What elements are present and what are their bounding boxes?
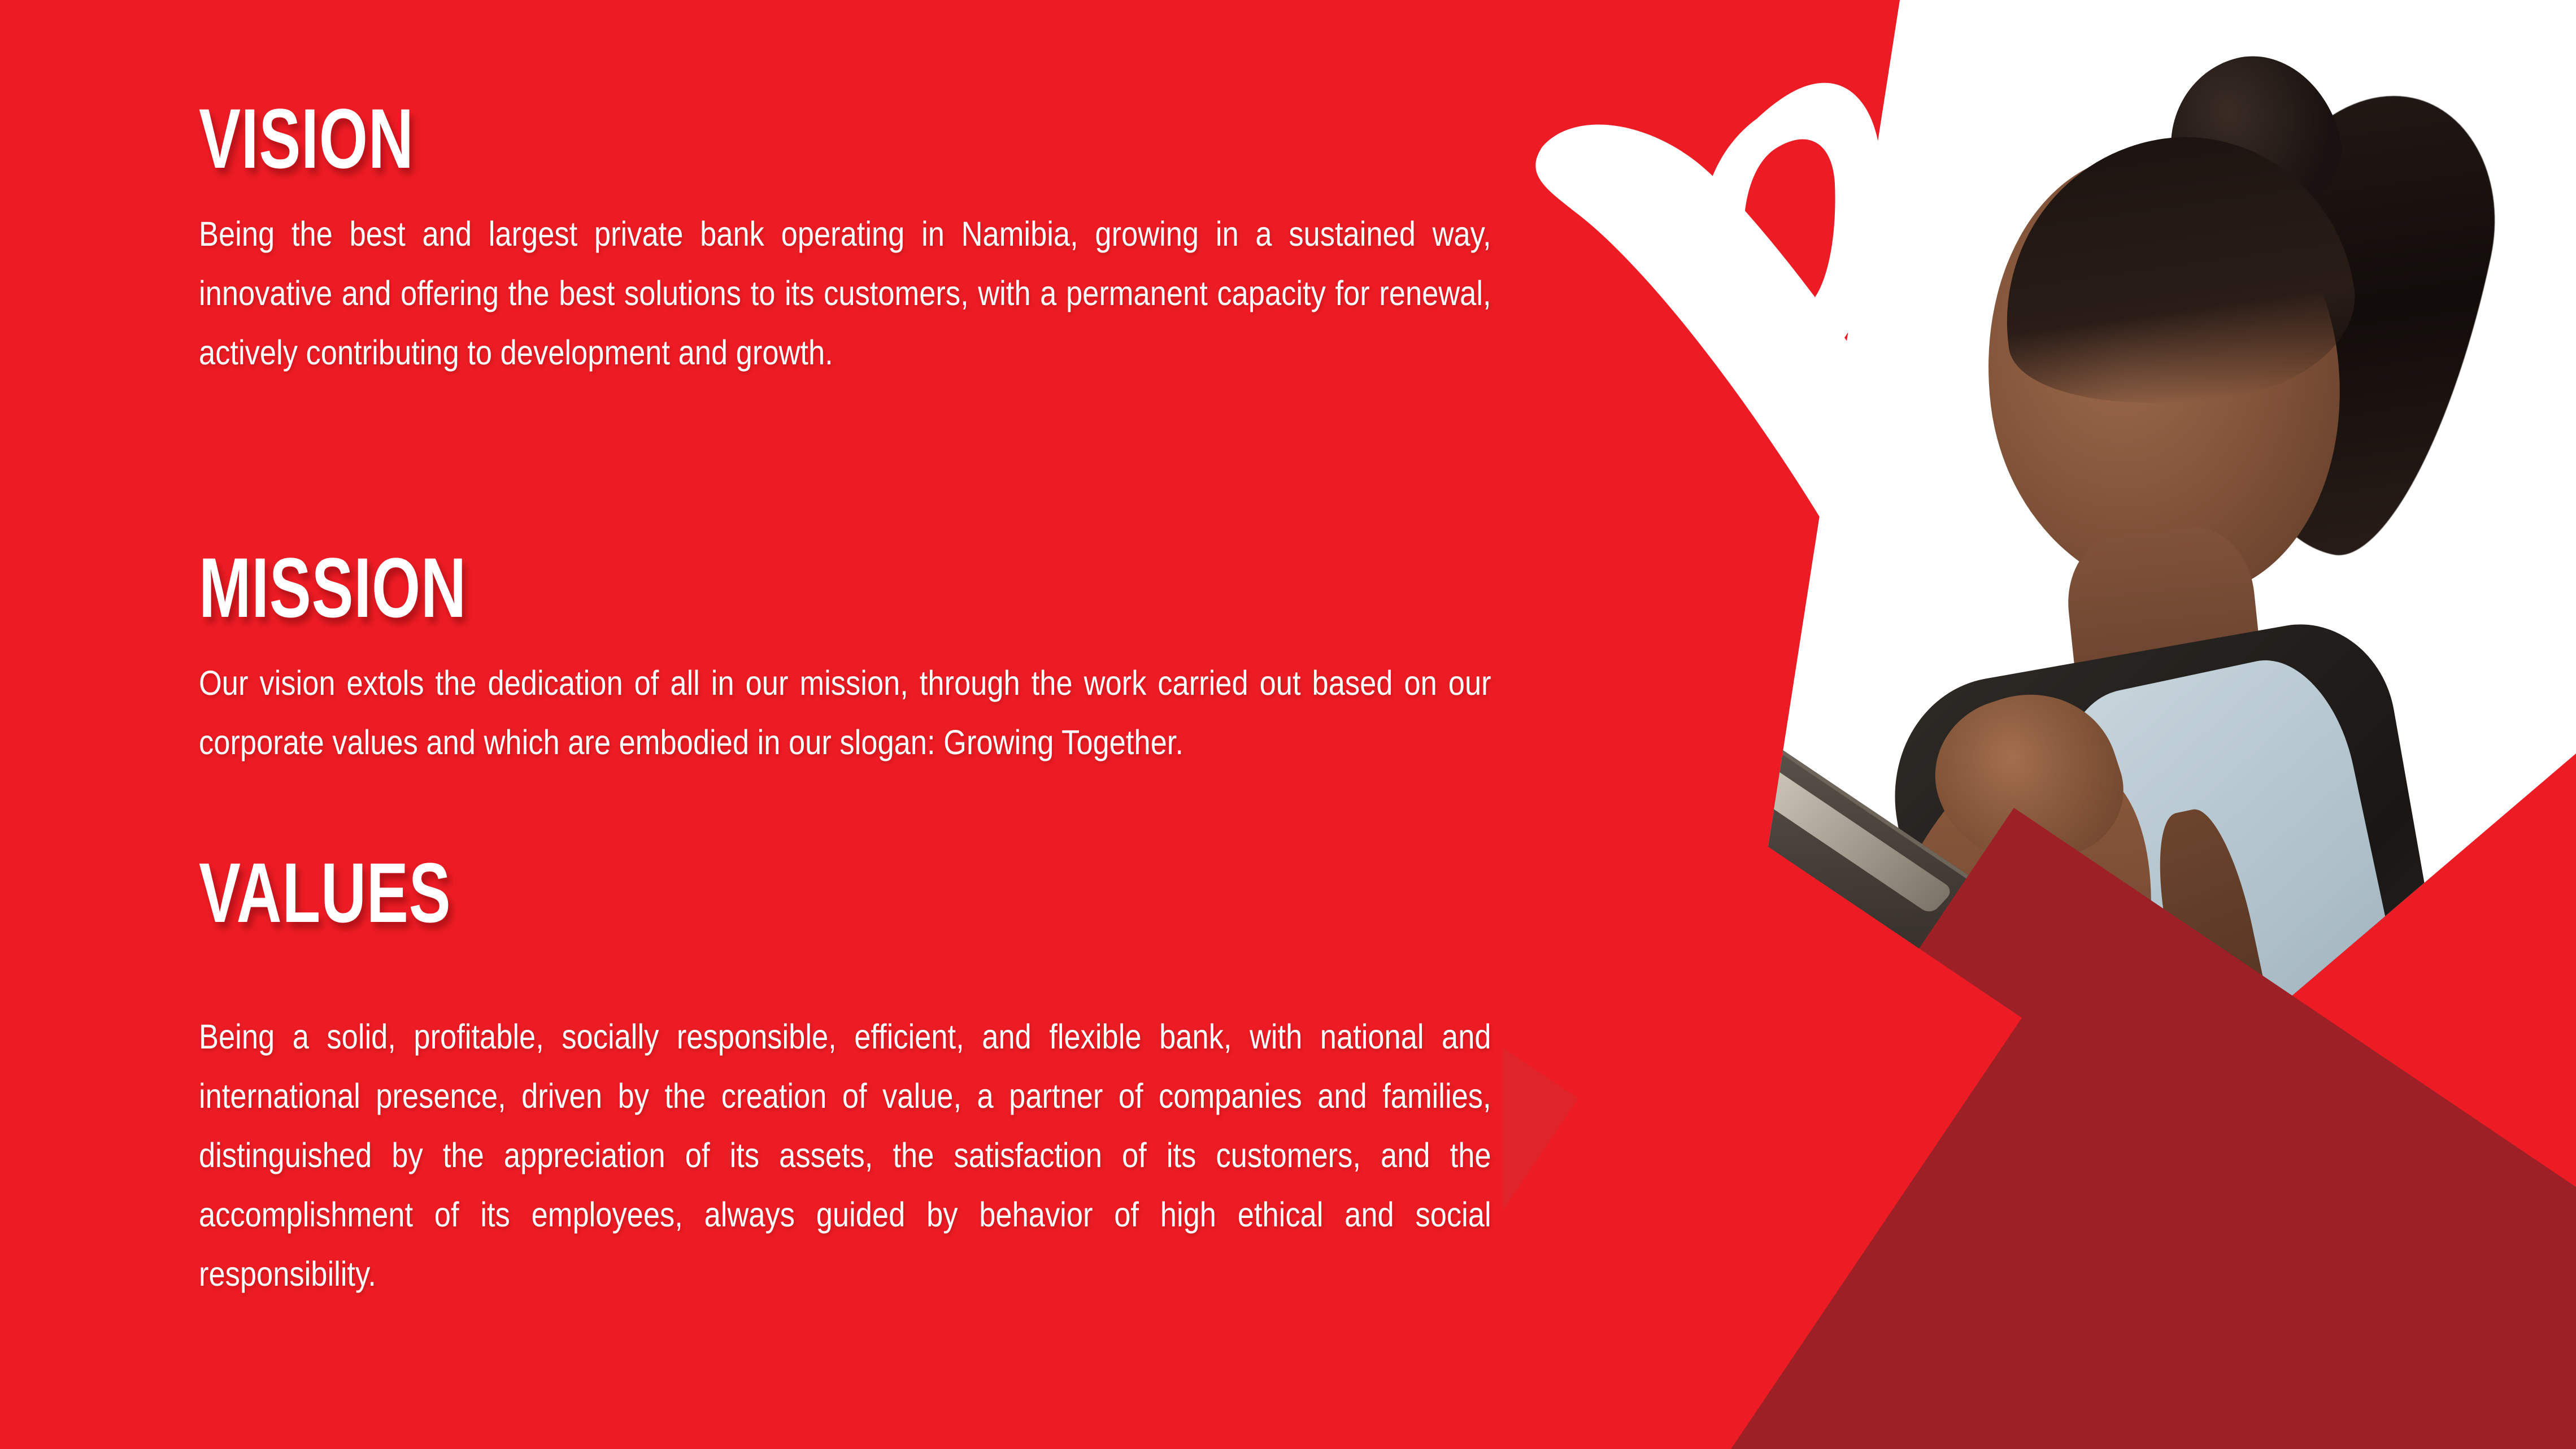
values-body: Being a solid, profitable, socially resp…	[199, 1007, 1491, 1304]
values-heading: VALUES	[199, 850, 1156, 935]
mission-heading: MISSION	[199, 545, 1156, 630]
vision-body: Being the best and largest private bank …	[199, 204, 1491, 382]
values-section: VALUES Being a solid, profitable, social…	[199, 850, 1492, 1304]
vision-section: VISION Being the best and largest privat…	[199, 96, 1492, 382]
mission-body: Our vision extols the dedication of all …	[199, 654, 1491, 772]
text-column: VISION Being the best and largest privat…	[199, 0, 1492, 1449]
vision-heading: VISION	[199, 96, 1156, 181]
diagonal-accent-band	[1503, 994, 1578, 1449]
artwork-panel	[1503, 0, 2576, 1449]
mission-section: MISSION Our vision extols the dedication…	[199, 545, 1492, 772]
slide-canvas: VISION Being the best and largest privat…	[0, 0, 2576, 1449]
